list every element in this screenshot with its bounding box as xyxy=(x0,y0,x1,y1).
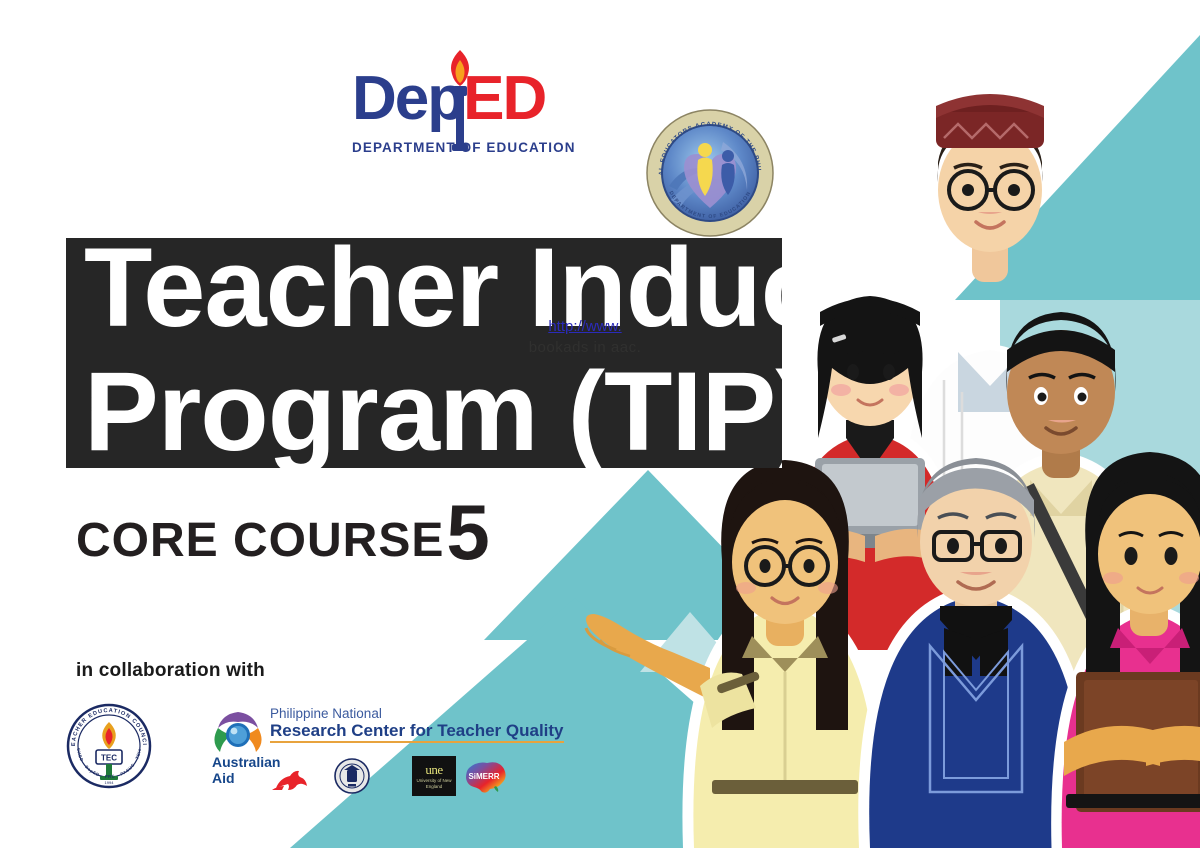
rctq-line2: Research Center for Teacher Quality xyxy=(270,721,564,743)
collaboration-heading: in collaboration with xyxy=(76,660,265,682)
svg-text:TEC: TEC xyxy=(101,754,117,763)
une-sublabel: University of New England xyxy=(412,778,456,789)
rctq-logo: Philippine National Research Center for … xyxy=(212,702,512,752)
url-overlay: http://www. bookads in aac. xyxy=(455,318,715,356)
une-mark-icon: une University of New England xyxy=(412,756,456,796)
svg-text:1994: 1994 xyxy=(105,780,115,785)
title-line-2: Program (TIP) xyxy=(84,356,782,468)
url-link[interactable]: http://www. xyxy=(455,318,715,335)
deped-subtitle: DEPARTMENT OF EDUCATION xyxy=(352,140,582,155)
cover-page: DepED DEPARTMENT OF EDUCATION xyxy=(0,0,1200,848)
university-seal-icon xyxy=(334,758,370,794)
rctq-swirl-icon xyxy=(212,710,264,756)
une-label: une xyxy=(412,762,456,778)
torch-seal-icon: TEC TEACHER EDUCATION COUNCIL CHED - Dep… xyxy=(65,702,153,790)
figure-woman-glasses xyxy=(586,460,881,848)
kangaroo-icon xyxy=(270,770,310,792)
australian-aid-line1: Australian xyxy=(212,754,312,770)
sub-partner-logos: Australian Aid une University of New Eng… xyxy=(212,754,512,796)
course-number: 5 xyxy=(446,498,489,566)
collaboration-logos: TEC TEACHER EDUCATION COUNCIL CHED - Dep… xyxy=(60,700,480,795)
deped-logo: DepED DEPARTMENT OF EDUCATION xyxy=(352,60,582,172)
neap-seal-icon: NATIONAL EDUCATORS ACADEMY OF THE PHILIP… xyxy=(645,108,775,238)
rctq-line1: Philippine National xyxy=(270,706,510,721)
torch-icon xyxy=(440,48,480,152)
simerr-australia-icon: SiMERR xyxy=(460,758,508,794)
rctq-text: Philippine National Research Center for … xyxy=(270,706,510,743)
svg-text:SiMERR: SiMERR xyxy=(468,772,499,781)
course-heading: CORE COURSE 5 xyxy=(76,498,490,566)
course-label: CORE COURSE xyxy=(76,516,444,566)
header-logos: DepED DEPARTMENT OF EDUCATION xyxy=(0,52,1200,172)
url-second-line: bookads in aac. xyxy=(455,339,715,356)
